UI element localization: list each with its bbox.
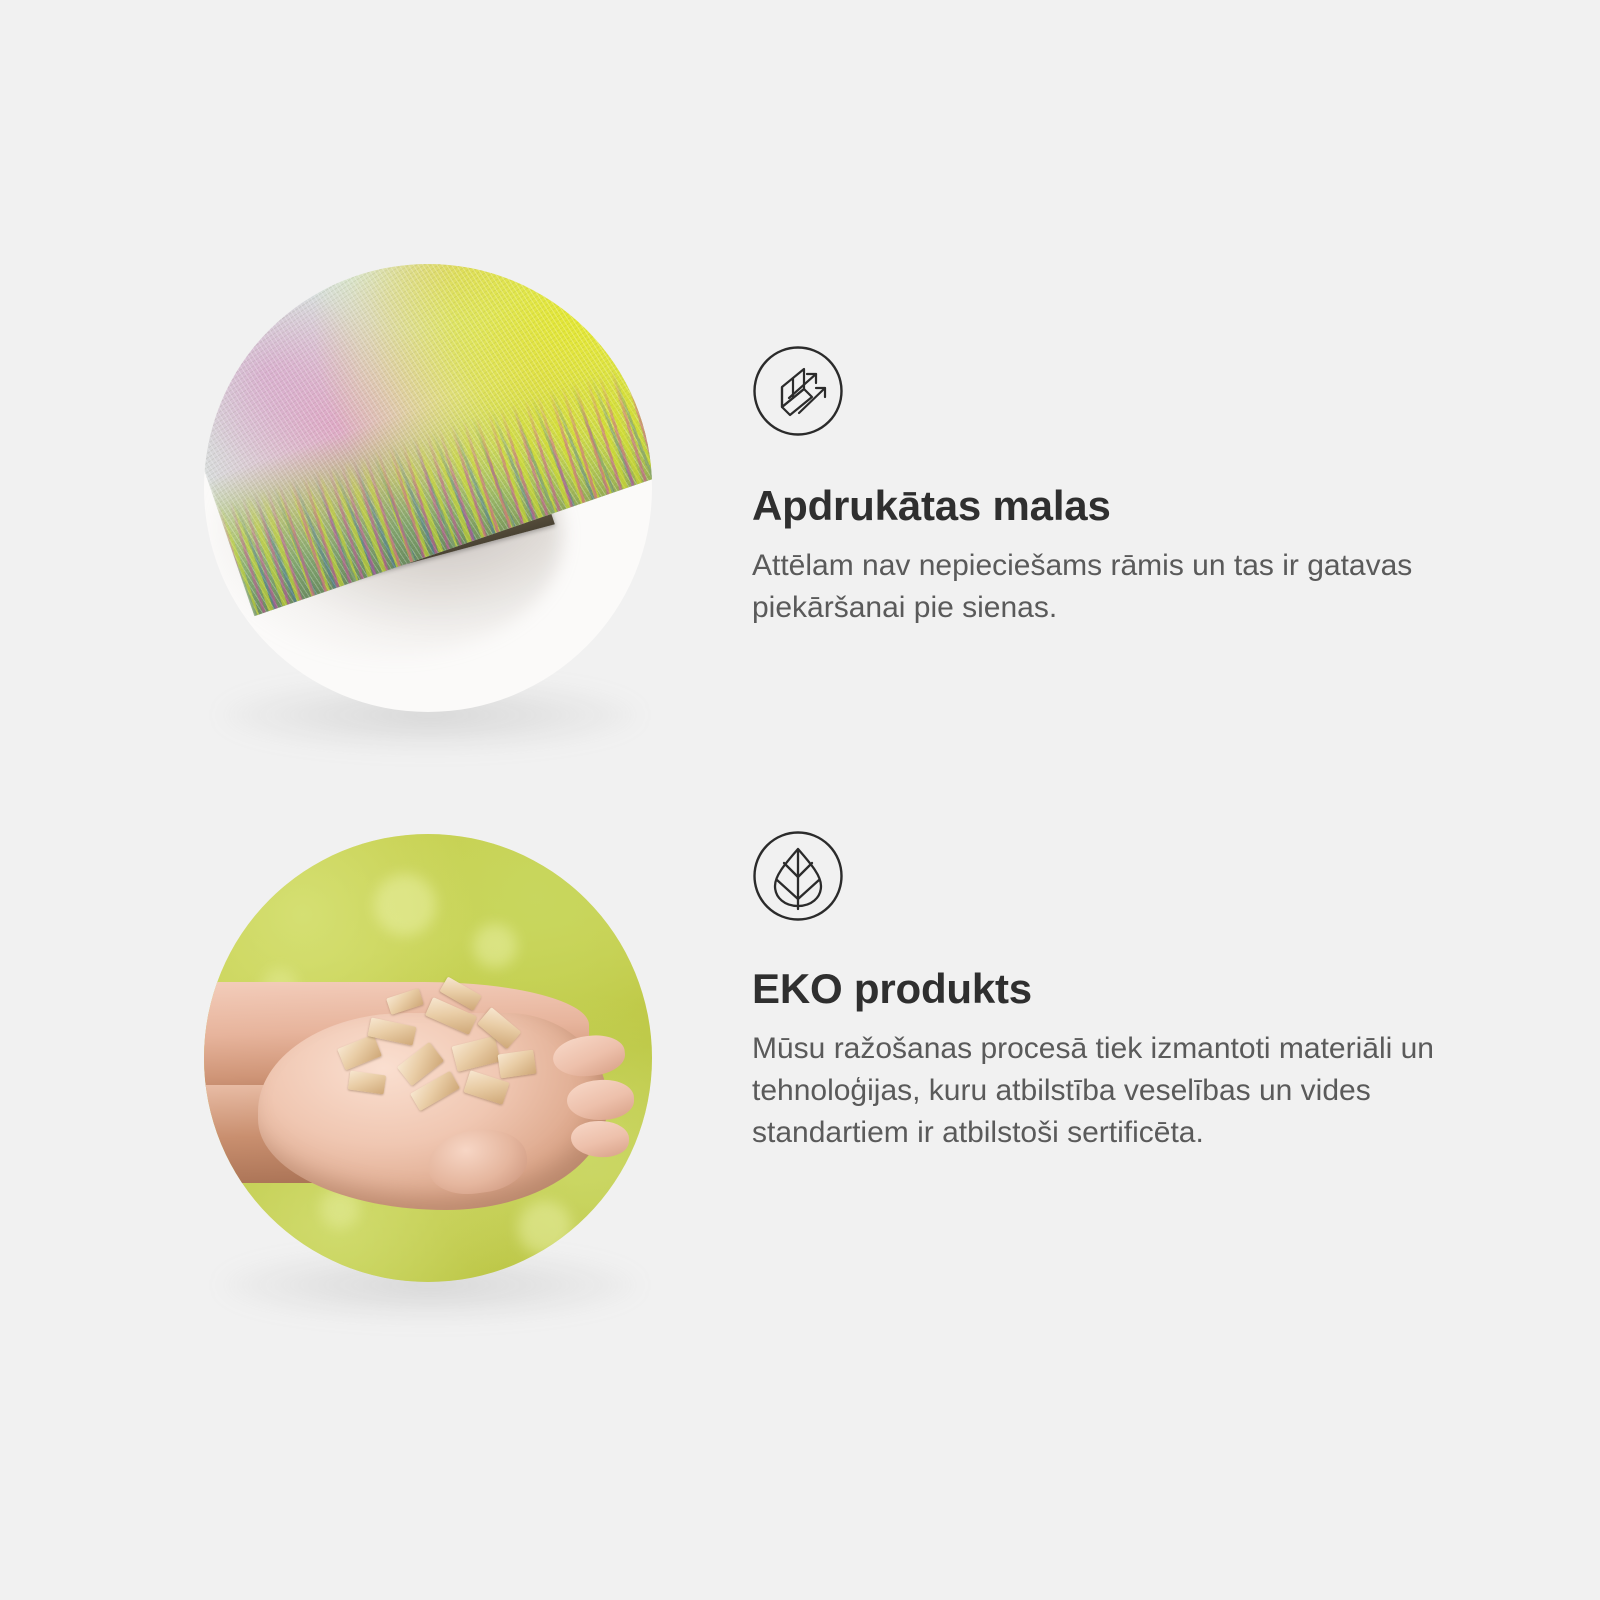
feature-description: Attēlam nav nepieciešams rāmis un tas ir… [752,545,1452,629]
wood-chip [337,1035,381,1071]
circular-photo-mask [204,264,652,712]
canvas-print-scene [204,264,652,712]
wood-chip-pile [320,982,562,1116]
feature-text-eco-product: EKO produkts Mūsu ražošanas procesā tiek… [752,830,1472,1154]
feature-text-printed-edges: Apdrukātas malas Attēlam nav nepieciešam… [752,345,1472,629]
wood-chip [386,988,424,1015]
circular-photo-mask [204,834,652,1282]
wrapped-canvas-edge-icon [752,345,844,437]
wood-chip [451,1036,499,1071]
bokeh-light [374,874,436,936]
feature-title: EKO produkts [752,966,1472,1012]
feature-block-eco-product: EKO produkts Mūsu ražošanas procesā tiek… [0,820,1600,1340]
feature-photo-canvas-edge [204,264,652,712]
feature-description: Mūsu ražošanas procesā tiek izmantoti ma… [752,1028,1452,1154]
feature-title: Apdrukātas malas [752,483,1472,529]
canvas-slab [204,264,652,712]
feature-photo-wood-chips [204,834,652,1282]
wood-chip [498,1049,537,1078]
eco-hands-scene [204,834,652,1282]
feature-block-printed-edges: Apdrukātas malas Attēlam nav nepieciešam… [0,250,1600,750]
bokeh-light [518,1201,572,1255]
feature-list-page: Apdrukātas malas Attēlam nav nepieciešam… [0,0,1600,1600]
wood-chip [348,1071,387,1095]
leaf-icon [752,830,844,922]
canvas-edge-highlight [204,264,652,616]
bokeh-light [473,924,517,968]
